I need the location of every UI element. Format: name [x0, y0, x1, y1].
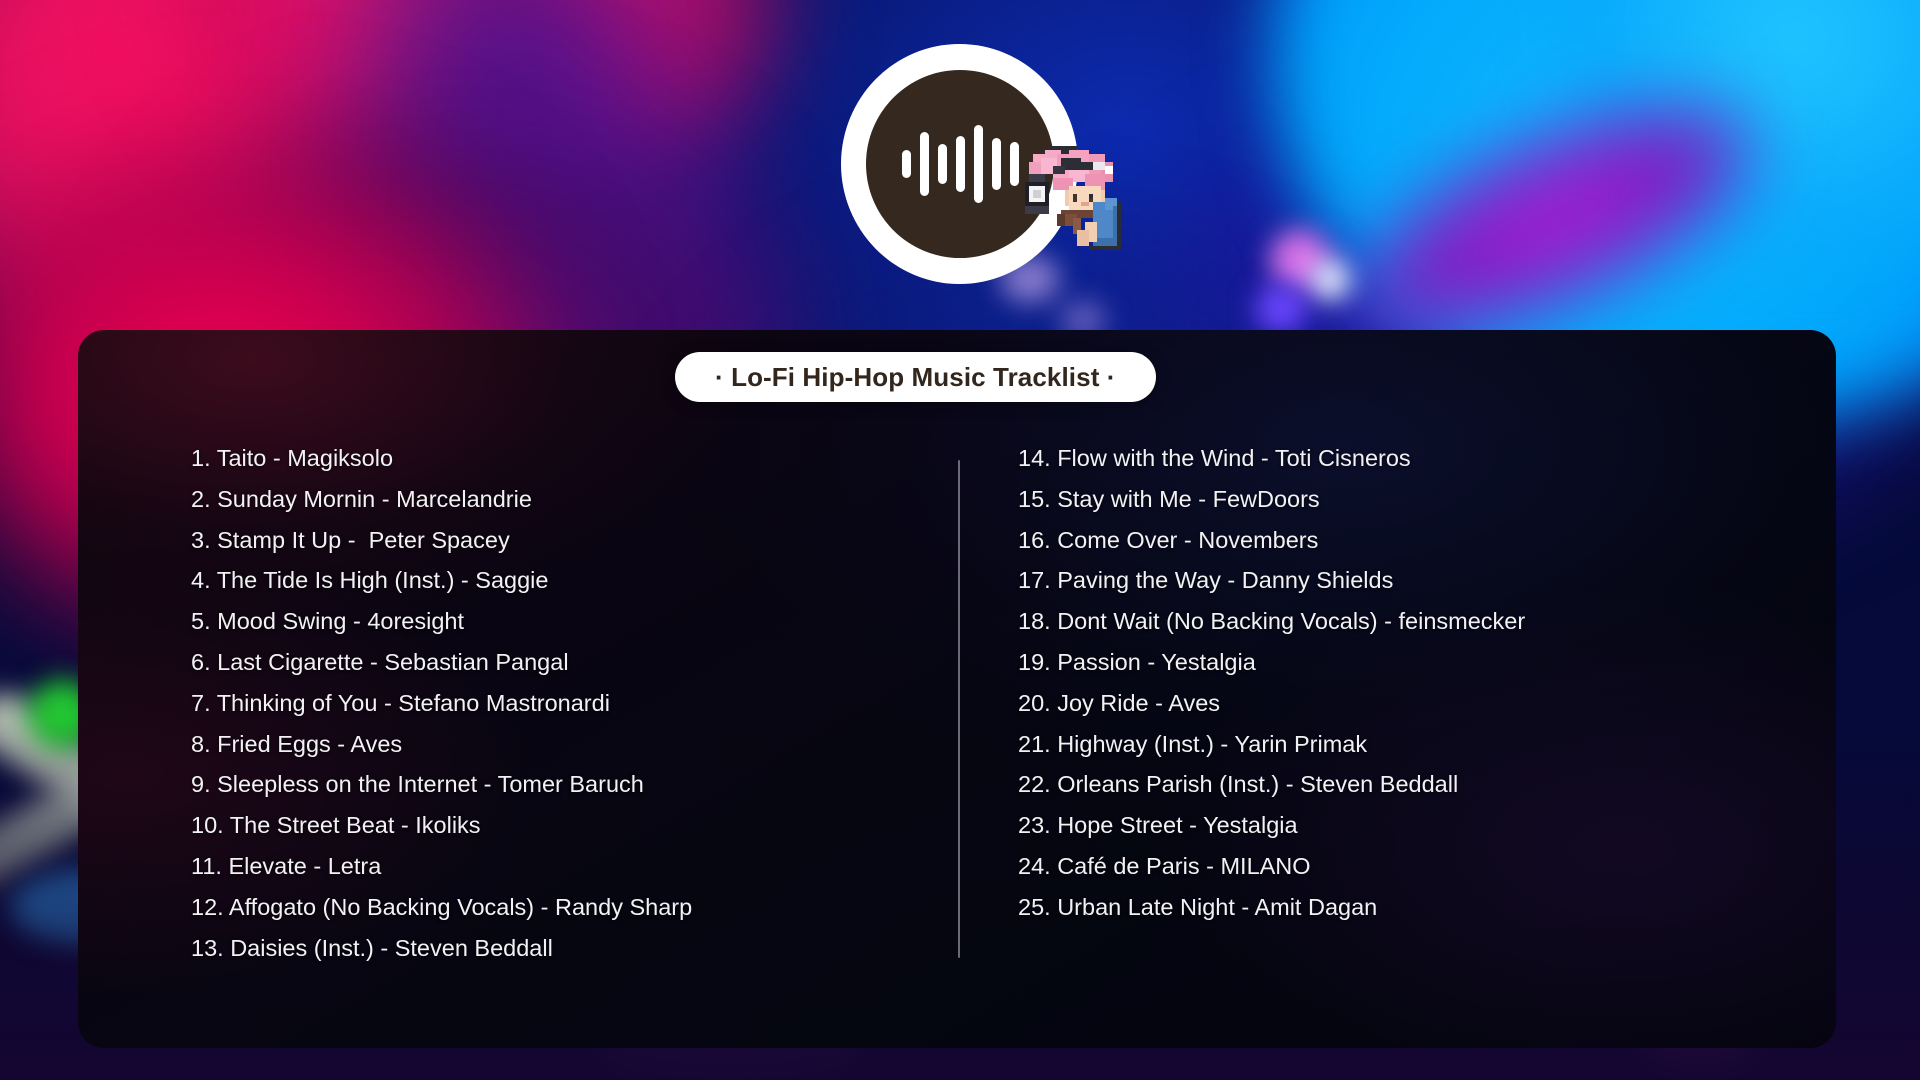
list-item: 6. Last Cigarette - Sebastian Pangal	[191, 642, 692, 683]
list-item: 2. Sunday Mornin - Marcelandrie	[191, 479, 692, 520]
tracklist-panel: · Lo-Fi Hip-Hop Music Tracklist · 1. Tai…	[78, 330, 1836, 1048]
waveform-bar	[992, 138, 1001, 190]
list-item: 17. Paving the Way - Danny Shields	[1018, 560, 1525, 601]
list-item: 9. Sleepless on the Internet - Tomer Bar…	[191, 764, 692, 805]
list-item: 18. Dont Wait (No Backing Vocals) - fein…	[1018, 601, 1525, 642]
list-item: 15. Stay with Me - FewDoors	[1018, 479, 1525, 520]
list-item: 19. Passion - Yestalgia	[1018, 642, 1525, 683]
list-item: 14. Flow with the Wind - Toti Cisneros	[1018, 438, 1525, 479]
list-item: 7. Thinking of You - Stefano Mastronardi	[191, 683, 692, 724]
list-item: 12. Affogato (No Backing Vocals) - Randy…	[191, 887, 692, 928]
list-item: 4. The Tide Is High (Inst.) - Saggie	[191, 560, 692, 601]
page-title: · Lo-Fi Hip-Hop Music Tracklist ·	[715, 362, 1116, 393]
waveform-bar	[956, 136, 965, 192]
list-item: 13. Daisies (Inst.) - Steven Beddall	[191, 928, 692, 969]
list-item: 3. Stamp It Up - Peter Spacey	[191, 520, 692, 561]
waveform-bar	[938, 144, 947, 184]
background-speckle-white	[1310, 260, 1350, 300]
tracklist-column-left: 1. Taito - Magiksolo 2. Sunday Mornin - …	[191, 438, 692, 968]
waveform-bar	[920, 132, 929, 196]
list-item: 11. Elevate - Letra	[191, 846, 692, 887]
tracklist-columns: 1. Taito - Magiksolo 2. Sunday Mornin - …	[78, 438, 1836, 998]
list-item: 25. Urban Late Night - Amit Dagan	[1018, 887, 1525, 928]
list-item: 1. Taito - Magiksolo	[191, 438, 692, 479]
background-speckle-blue	[1255, 285, 1307, 333]
list-item: 8. Fried Eggs - Aves	[191, 724, 692, 765]
list-item: 5. Mood Swing - 4oresight	[191, 601, 692, 642]
waveform-bar	[974, 125, 983, 203]
list-item: 24. Café de Paris - MILANO	[1018, 846, 1525, 887]
list-item: 16. Come Over - Novembers	[1018, 520, 1525, 561]
tracklist-title-badge: · Lo-Fi Hip-Hop Music Tracklist ·	[675, 352, 1156, 402]
list-item: 10. The Street Beat - Ikoliks	[191, 805, 692, 846]
pixel-art-dj-character-icon	[1017, 126, 1145, 254]
list-item: 23. Hope Street - Yestalgia	[1018, 805, 1525, 846]
waveform-bar	[902, 150, 911, 178]
tracklist-column-right: 14. Flow with the Wind - Toti Cisneros 1…	[1018, 438, 1525, 928]
list-item: 22. Orleans Parish (Inst.) - Steven Bedd…	[1018, 764, 1525, 805]
list-item: 21. Highway (Inst.) - Yarin Primak	[1018, 724, 1525, 765]
list-item: 20. Joy Ride - Aves	[1018, 683, 1525, 724]
logo	[841, 44, 1078, 304]
